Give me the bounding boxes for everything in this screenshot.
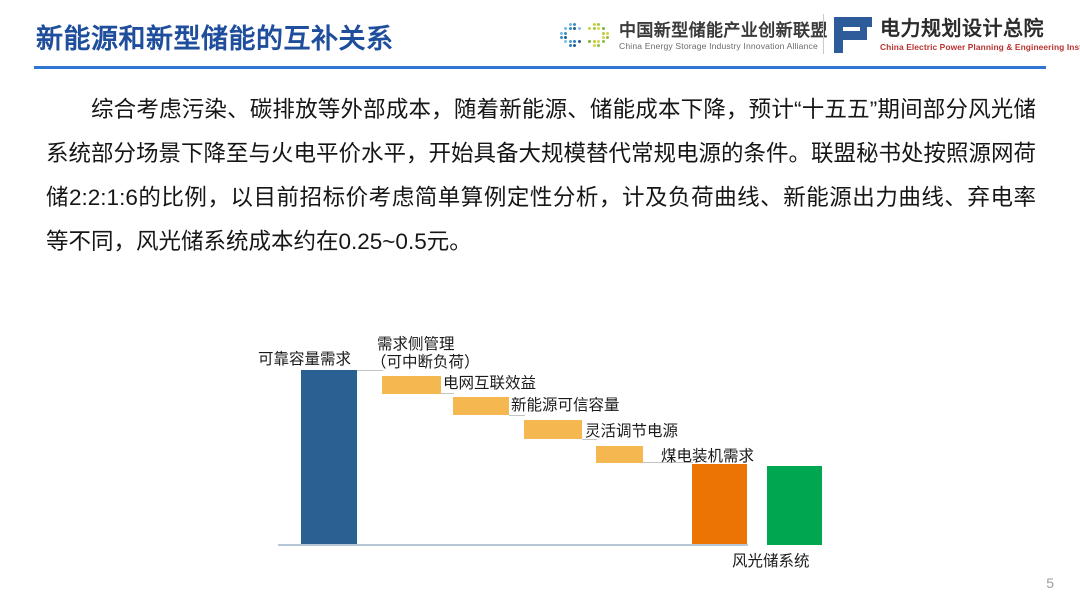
cesa-name-en: China Energy Storage Industry Innovation…	[619, 42, 828, 51]
cesa-logo-left-dots	[560, 19, 586, 53]
ceppei-name-cn: 电力规划设计总院	[880, 19, 1080, 39]
waterfall-bar	[453, 397, 509, 415]
cesa-dot-logo-icon	[560, 16, 612, 56]
waterfall-bar	[524, 420, 582, 439]
chart-baseline-axis	[278, 544, 748, 546]
logo-divider	[823, 14, 824, 54]
waterfall-bar-label: 新能源可信容量	[511, 396, 620, 415]
waterfall-connector	[509, 415, 525, 416]
waterfall-bar-label: 灵活调节电源	[585, 422, 678, 441]
waterfall-bar	[382, 376, 441, 394]
cesa-logo-text: 中国新型储能产业创新联盟 China Energy Storage Indust…	[619, 22, 828, 51]
ceppei-name-en: China Electric Power Planning & Engineer…	[880, 43, 1080, 51]
waterfall-bar-label: 需求侧管理	[377, 335, 455, 354]
waterfall-bar	[692, 464, 747, 544]
cesa-name-cn: 中国新型储能产业创新联盟	[619, 22, 828, 39]
waterfall-bar-label: 电网互联效益	[443, 374, 536, 393]
waterfall-bar	[596, 446, 643, 463]
cesa-logo-right-dots	[584, 19, 610, 53]
slide-header: 新能源和新型储能的互补关系 中国新型储能产业创新联盟 China Energy …	[0, 0, 1080, 74]
waterfall-bar	[301, 370, 357, 544]
ceppei-logo-bar-right	[860, 27, 867, 40]
ceppei-logo-bar-top	[843, 17, 872, 27]
ceppei-logo-bar-vertical	[834, 17, 843, 53]
ceppei-block-logo-icon	[834, 17, 872, 53]
page-number: 5	[1046, 575, 1054, 591]
page-title: 新能源和新型储能的互补关系	[36, 17, 394, 56]
waterfall-bar	[767, 466, 822, 545]
waterfall-connector	[582, 439, 597, 440]
logo-ceppei: 电力规划设计总院 China Electric Power Planning &…	[834, 13, 1080, 57]
waterfall-connector	[441, 393, 454, 394]
waterfall-bar-label: 风光储系统	[732, 552, 810, 571]
body-paragraph: 综合考虑污染、碳排放等外部成本，随着新能源、储能成本下降，预计“十五五”期间部分…	[46, 88, 1036, 264]
logo-cesa: 中国新型储能产业创新联盟 China Energy Storage Indust…	[560, 15, 828, 57]
waterfall-connector	[357, 370, 383, 371]
waterfall-connector	[643, 462, 693, 463]
waterfall-bar-label: （可中断负荷）	[371, 353, 480, 372]
waterfall-bar-label: 煤电装机需求	[661, 447, 754, 466]
waterfall-bar-label: 可靠容量需求	[258, 350, 351, 369]
ceppei-logo-text: 电力规划设计总院 China Electric Power Planning &…	[880, 19, 1080, 51]
title-underline-rule	[34, 66, 1046, 69]
